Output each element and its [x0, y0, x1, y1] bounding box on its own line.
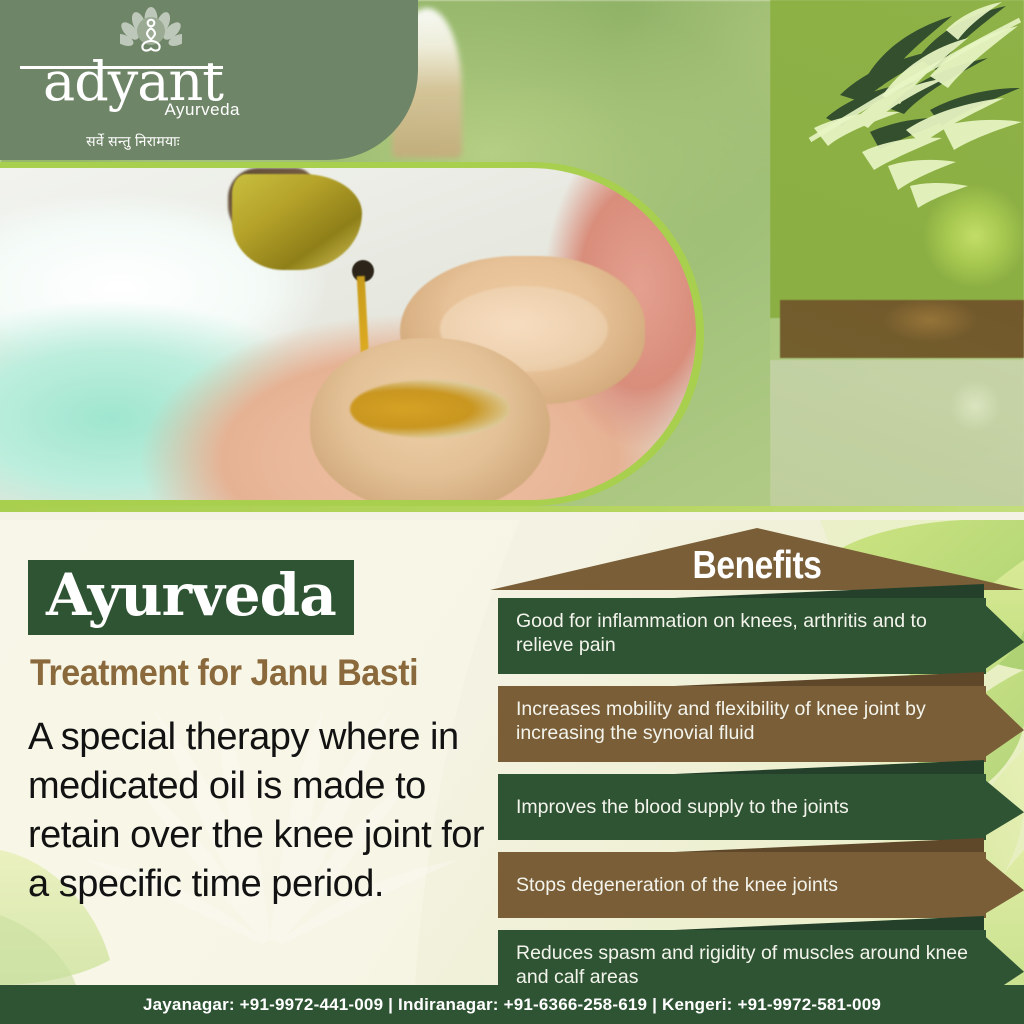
- oil-bottle: [232, 174, 362, 270]
- herb-photo-veil: [770, 0, 1024, 512]
- contact-footer: Jayanagar: +91-9972-441-009 | Indiranaga…: [0, 985, 1024, 1024]
- benefit-item-3: Improves the blood supply to the joints: [490, 774, 986, 831]
- brand-sanskrit-tagline: सर्वे सन्तु निरामयाः: [18, 132, 248, 151]
- dough-ring-front-oil-pool: [350, 380, 510, 438]
- benefit-text-4: Stops degeneration of the knee joints: [490, 852, 986, 909]
- benefit-text-2: Increases mobility and flexibility of kn…: [490, 686, 986, 757]
- page-subtitle: Treatment for Janu Basti: [30, 652, 418, 694]
- hero-section: adyant Ayurveda सर्वे सन्तु निरामयाः: [0, 0, 1024, 512]
- title-box: Ayurveda: [28, 560, 354, 635]
- benefits-heading-banner: Benefits: [490, 528, 1024, 590]
- benefits-heading-label: Benefits: [527, 544, 986, 588]
- benefit-text-3: Improves the blood supply to the joints: [490, 774, 986, 831]
- brand-subname: Ayurveda: [18, 100, 248, 120]
- janu-basti-oil-pouring-photo: [0, 168, 696, 500]
- poster-canvas: adyant Ayurveda सर्वे सन्तु निरामयाः: [0, 0, 1024, 1024]
- benefit-item-4: Stops degeneration of the knee joints: [490, 852, 986, 909]
- contact-numbers: Jayanagar: +91-9972-441-009 | Indiranaga…: [143, 995, 881, 1015]
- janu-basti-photo-frame: [0, 162, 704, 506]
- herb-photo-column: [770, 0, 1024, 512]
- benefits-list: Good for inflammation on knees, arthriti…: [490, 590, 1024, 985]
- benefit-item-1: Good for inflammation on knees, arthriti…: [490, 598, 986, 669]
- benefit-text-1: Good for inflammation on knees, arthriti…: [490, 598, 986, 669]
- logo-panel: adyant Ayurveda सर्वे सन्तु निरामयाः: [0, 0, 418, 160]
- page-title: Ayurveda: [46, 566, 336, 625]
- hero-divider-band: [0, 506, 1024, 512]
- description-paragraph: A special therapy where in medicated oil…: [28, 713, 488, 909]
- benefit-item-2: Increases mobility and flexibility of kn…: [490, 686, 986, 757]
